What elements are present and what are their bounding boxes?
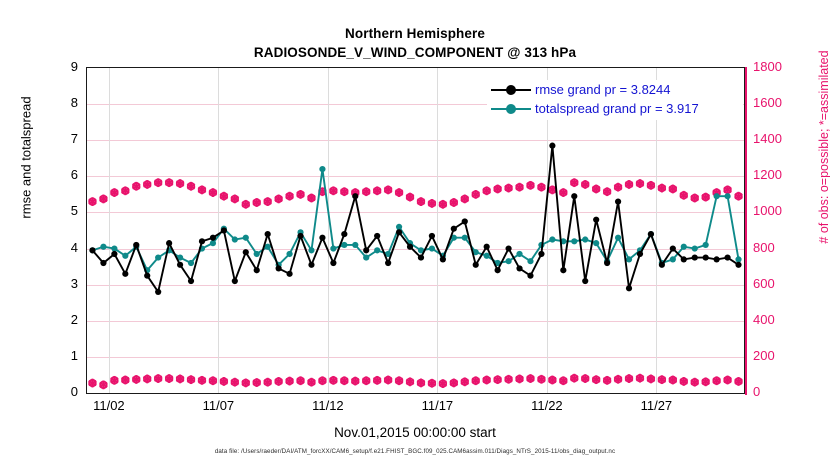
title-line-1: Northern Hemisphere	[0, 24, 830, 43]
y-axis-right-title: # of obs: o=possible; *=assimilated	[817, 7, 830, 287]
legend-label-totalspread: totalspread grand pr = 3.917	[535, 101, 699, 116]
y-axis-right-tick-label: 1800	[753, 61, 805, 73]
legend-marker-rmse	[506, 85, 516, 95]
y-axis-left-title: rmse and totalspread	[19, 28, 34, 288]
y-axis-left-tick-label: 6	[36, 169, 78, 181]
y-axis-left-tick-label: 2	[36, 314, 78, 326]
y-axis-left-tick-label: 5	[36, 205, 78, 217]
series-rmse	[89, 143, 741, 295]
data-file-footer: data file: /Users/raeder/DAI/ATM_forcXX/…	[0, 448, 830, 455]
x-axis-tick-label: 11/02	[74, 398, 144, 413]
obs-assimilated-markers	[89, 374, 743, 389]
y-axis-left-tick-label: 4	[36, 242, 78, 254]
x-axis-title: Nov.01,2015 00:00:00 start	[0, 425, 830, 440]
title-line-2: RADIOSONDE_V_WIND_COMPONENT @ 313 hPa	[0, 43, 830, 62]
legend-item-totalspread[interactable]: totalspread grand pr = 3.917	[487, 99, 743, 118]
obs-assimilated-overlay	[89, 178, 743, 208]
y-axis-left-tick-label: 9	[36, 61, 78, 73]
y-axis-left-tick-label: 1	[36, 350, 78, 362]
chart-legend: rmse grand pr = 3.8244 totalspread grand…	[487, 80, 743, 120]
obs-possible-markers	[89, 179, 742, 207]
y-axis-right-tick-label: 1200	[753, 169, 805, 181]
x-axis-tick-label: 11/22	[512, 398, 582, 413]
y-axis-left-tick-label: 7	[36, 133, 78, 145]
x-axis-tick-label: 11/27	[621, 398, 691, 413]
y-axis-right-tick-label: 1600	[753, 97, 805, 109]
x-axis-tick-label: 11/07	[183, 398, 253, 413]
y-axis-right-tick-label: 0	[753, 386, 805, 398]
y-axis-left-tick-label: 0	[36, 386, 78, 398]
y-axis-right-tick-label: 1400	[753, 133, 805, 145]
y-axis-right-tick-label: 600	[753, 278, 805, 290]
legend-item-rmse[interactable]: rmse grand pr = 3.8244	[487, 80, 743, 99]
legend-marker-totalspread	[506, 104, 516, 114]
y-axis-left-tick-label: 8	[36, 97, 78, 109]
chart-title: Northern Hemisphere RADIOSONDE_V_WIND_CO…	[0, 24, 830, 62]
y-axis-right-tick-label: 1000	[753, 205, 805, 217]
right-axis-spine	[745, 67, 747, 395]
x-axis-tick-label: 11/12	[293, 398, 363, 413]
y-axis-right-tick-label: 400	[753, 314, 805, 326]
legend-label-rmse: rmse grand pr = 3.8244	[535, 82, 671, 97]
y-axis-right-tick-label: 800	[753, 242, 805, 254]
y-axis-left-tick-label: 3	[36, 278, 78, 290]
chart-page: Northern Hemisphere RADIOSONDE_V_WIND_CO…	[0, 0, 830, 470]
x-axis-tick-label: 11/17	[402, 398, 472, 413]
y-axis-right-tick-label: 200	[753, 350, 805, 362]
